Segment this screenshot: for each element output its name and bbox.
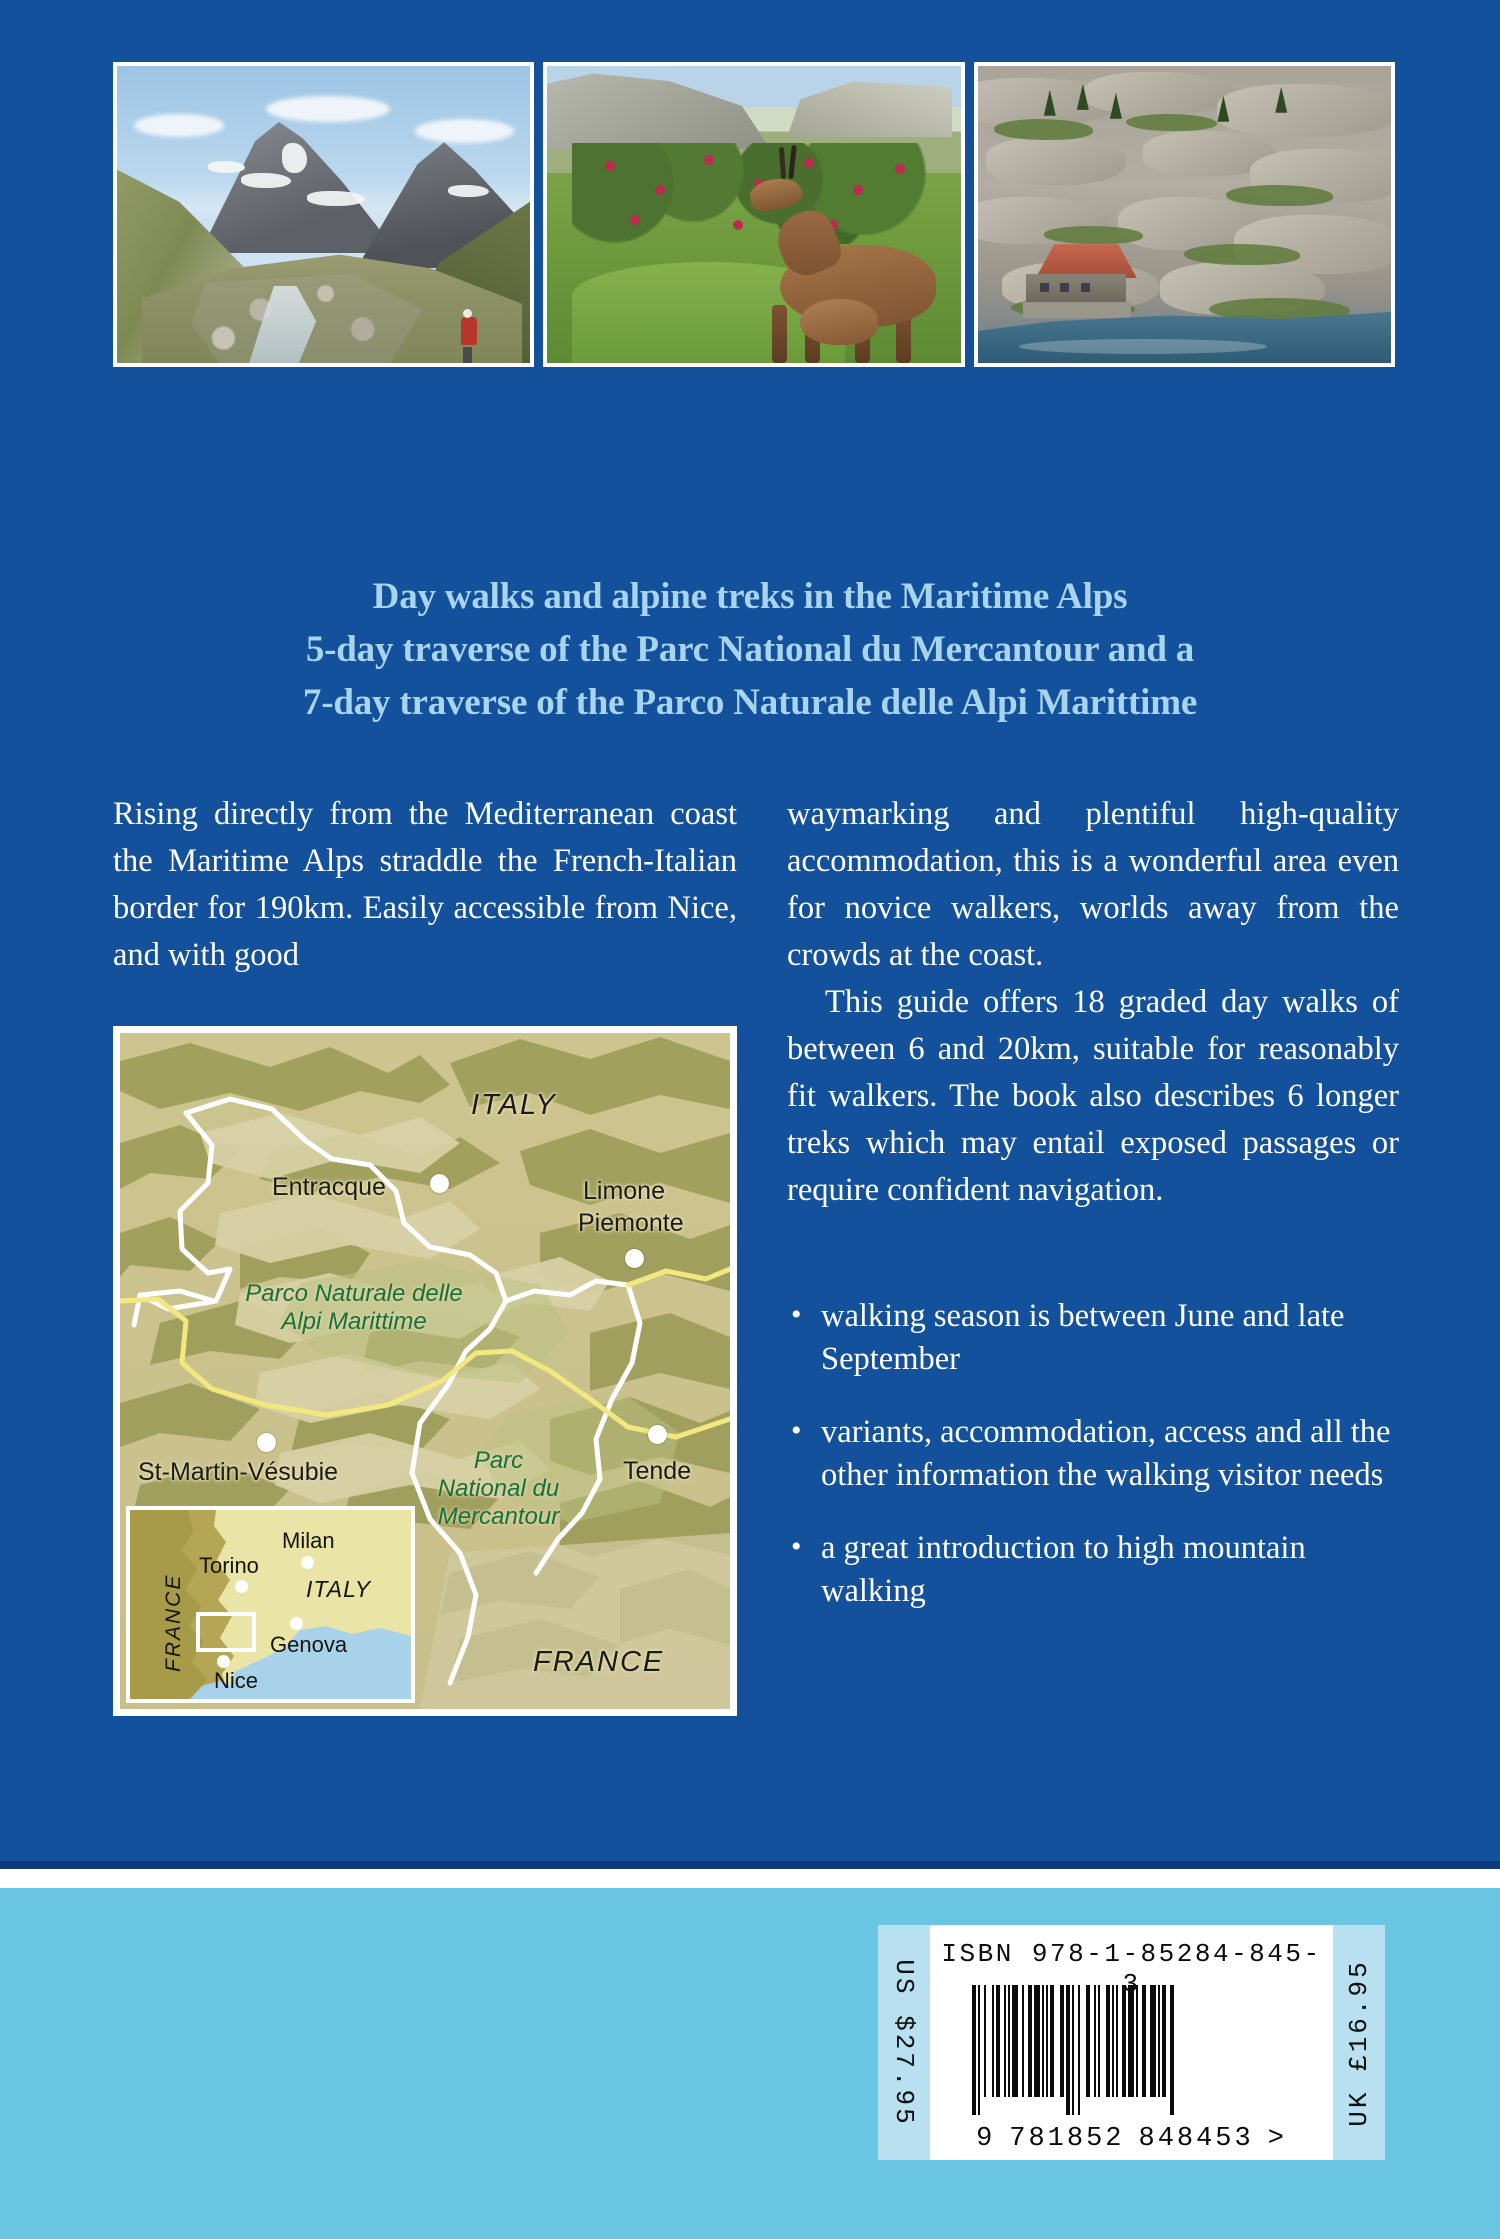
map-dot-tende: [648, 1425, 667, 1444]
region-map: ITALY FRANCE Entracque Limone Piemonte P…: [113, 1026, 737, 1716]
bullet-item: a great introduction to high mountain wa…: [787, 1527, 1407, 1613]
inset-dot-genova: [290, 1617, 303, 1630]
map-dot-entracque: [430, 1174, 449, 1193]
inset-label-genova: Genova: [270, 1632, 347, 1658]
headline-line-3: 7-day traverse of the Parco Naturale del…: [0, 676, 1500, 729]
inset-label-torino: Torino: [199, 1553, 259, 1579]
map-label-france: FRANCE: [533, 1646, 664, 1679]
photo-strip: [113, 62, 1395, 367]
blurb-right-column: waymarking and plentiful high-quality ac…: [787, 791, 1399, 1214]
barcode-digit-group-1: 781852: [1009, 2124, 1124, 2154]
headline-line-1: Day walks and alpine treks in the Mariti…: [0, 570, 1500, 623]
blurb-left-column: Rising directly from the Mediterranean c…: [113, 791, 737, 979]
map-label-piemonte: Piemonte: [578, 1209, 684, 1238]
map-label-tende: Tende: [623, 1457, 691, 1486]
inset-label-milan: Milan: [282, 1528, 335, 1554]
headline: Day walks and alpine treks in the Mariti…: [0, 570, 1500, 729]
us-price-text: US $27.95: [889, 1959, 919, 2126]
map-label-st-martin-vesubie: St-Martin-Vésubie: [138, 1458, 338, 1487]
barcode-bar: [1174, 1985, 1176, 2115]
barcode-digit-leading: 9: [976, 2124, 995, 2154]
isbn-barcode-block: US $27.95 ISBN 978-1-85284-845-3 9 78185…: [878, 1925, 1385, 2160]
navy-rule: [0, 1861, 1500, 1869]
white-rule: [0, 1869, 1500, 1888]
inset-label-nice: Nice: [214, 1668, 258, 1694]
photo-chamois-with-young: [543, 62, 964, 367]
book-back-cover: Day walks and alpine treks in the Mariti…: [0, 0, 1500, 2239]
uk-price-text: UK £16.95: [1344, 1959, 1374, 2126]
map-label-limone: Limone: [583, 1177, 665, 1206]
bullet-item: variants, accommodation, access and all …: [787, 1411, 1407, 1497]
blurb-paragraph-right-1: waymarking and plentiful high-quality ac…: [787, 791, 1399, 979]
blurb-paragraph-left: Rising directly from the Mediterranean c…: [113, 791, 737, 979]
barcode-digits: 9 781852 848453 >: [942, 2124, 1321, 2154]
bullet-item: walking season is between June and late …: [787, 1295, 1407, 1381]
photo-mountain-refuge-above-lake: [974, 62, 1395, 367]
map-label-parc-national-mercantour: Parc National du Mercantour: [416, 1447, 581, 1531]
inset-dot-milan: [301, 1556, 314, 1569]
photo-mountain-valley-with-hiker: [113, 62, 534, 367]
blurb-paragraph-right-2: This guide offers 18 graded day walks of…: [787, 979, 1399, 1214]
inset-label-italy: ITALY: [306, 1576, 371, 1603]
uk-price-panel: UK £16.95: [1333, 1925, 1385, 2160]
map-inset-overview: FRANCE ITALY Torino Milan Genova Nice: [126, 1506, 415, 1703]
feature-bullet-list: walking season is between June and late …: [787, 1295, 1407, 1643]
barcode-area: ISBN 978-1-85284-845-3 9 781852 848453 >: [930, 1925, 1333, 2160]
map-label-entracque: Entracque: [272, 1173, 386, 1202]
map-label-italy: ITALY: [471, 1089, 557, 1122]
inset-label-france: FRANCE: [162, 1574, 186, 1672]
map-dot-st-martin-vesubie: [257, 1433, 276, 1452]
map-label-parco-naturale: Parco Naturale delle Alpi Marittime: [234, 1280, 474, 1336]
inset-dot-nice: [217, 1655, 230, 1668]
barcode-bars: [972, 1985, 1293, 2115]
barcode-digit-group-2: 848453: [1139, 2124, 1254, 2154]
map-dot-limone-piemonte: [625, 1249, 644, 1268]
barcode-digit-trailing: >: [1268, 2124, 1287, 2154]
us-price-panel: US $27.95: [878, 1925, 930, 2160]
inset-dot-torino: [235, 1580, 248, 1593]
headline-line-2: 5-day traverse of the Parc National du M…: [0, 623, 1500, 676]
